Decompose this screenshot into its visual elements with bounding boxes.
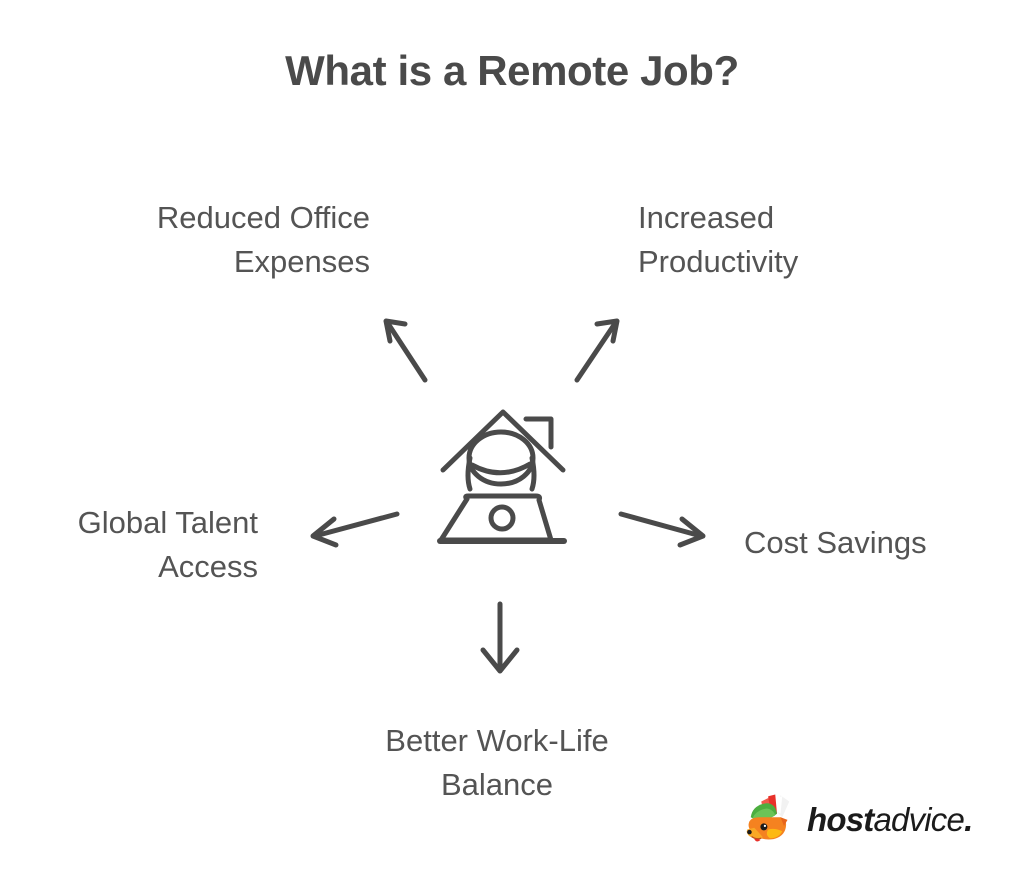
benefit-label-increased-productivity: Increased Productivity	[638, 196, 968, 284]
arrow-right	[621, 514, 703, 545]
logo-word-advice: advice	[873, 801, 964, 838]
work-from-home-icon	[440, 412, 564, 541]
fox-mascot-icon	[742, 791, 798, 847]
arrow-up-right	[577, 321, 617, 380]
person-head-shape	[469, 432, 533, 484]
person-body-right-line	[532, 458, 534, 489]
arrow-left	[313, 514, 397, 545]
hostadvice-logo: hostadvice.	[742, 788, 982, 850]
laptop-camera-dot	[491, 507, 513, 529]
benefit-label-better-work-life-balance: Better Work-Life Balance	[287, 719, 707, 807]
person-face-line	[472, 464, 530, 473]
benefit-label-global-talent-access: Global Talent Access	[0, 501, 258, 589]
page-title: What is a Remote Job?	[0, 46, 1024, 96]
person-body-left-line	[468, 458, 470, 489]
arrow-up-left	[386, 321, 425, 380]
arrow-down	[483, 604, 517, 671]
benefit-label-reduced-office-expenses: Reduced Office Expenses	[60, 196, 370, 284]
hostadvice-wordmark: hostadvice.	[807, 803, 972, 836]
house-roof-shape	[443, 412, 563, 470]
laptop-shape	[441, 496, 551, 540]
chimney-shape	[526, 419, 551, 447]
infographic-canvas: What is a Remote Job?	[0, 0, 1024, 896]
logo-word-host: host	[807, 801, 873, 838]
benefit-label-cost-savings: Cost Savings	[744, 521, 1024, 565]
logo-period: .	[964, 801, 972, 838]
